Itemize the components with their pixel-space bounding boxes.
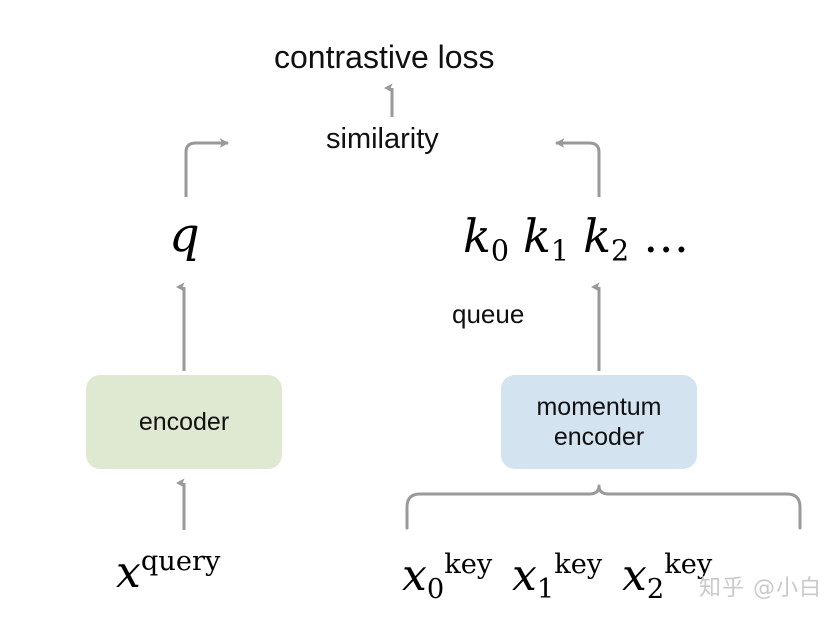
watermark: 知乎 @小白 — [699, 570, 822, 602]
page-title: contrastive loss — [274, 41, 495, 73]
moco-architecture-diagram: contrastive loss similarity queue q k0k1… — [0, 0, 826, 634]
input-x-key-1: x1key — [512, 551, 602, 603]
input-x-key-0: x0key — [402, 551, 492, 603]
key-symbol-2: k2 — [583, 209, 629, 263]
key-symbol-0: k0 — [463, 209, 509, 263]
encoder-box[interactable]: encoder — [86, 375, 282, 469]
encoder-box-label: encoder — [139, 407, 229, 438]
similarity-label: similarity — [326, 125, 439, 154]
input-x-query: xquery — [116, 548, 220, 595]
key-symbols: k0k1k2… — [463, 213, 689, 266]
key-symbol-1: k1 — [523, 209, 569, 263]
queue-label: queue — [452, 301, 524, 327]
connector-layer — [0, 0, 826, 634]
key-ellipsis: … — [643, 209, 689, 263]
arrow-keys-to-similarity — [556, 143, 599, 197]
momentum-encoder-box[interactable]: momentumencoder — [501, 375, 697, 469]
momentum-encoder-box-label: momentumencoder — [536, 392, 661, 453]
brace-key-inputs — [407, 486, 800, 528]
query-symbol: q — [169, 211, 200, 259]
arrow-query-to-similarity — [186, 143, 228, 197]
